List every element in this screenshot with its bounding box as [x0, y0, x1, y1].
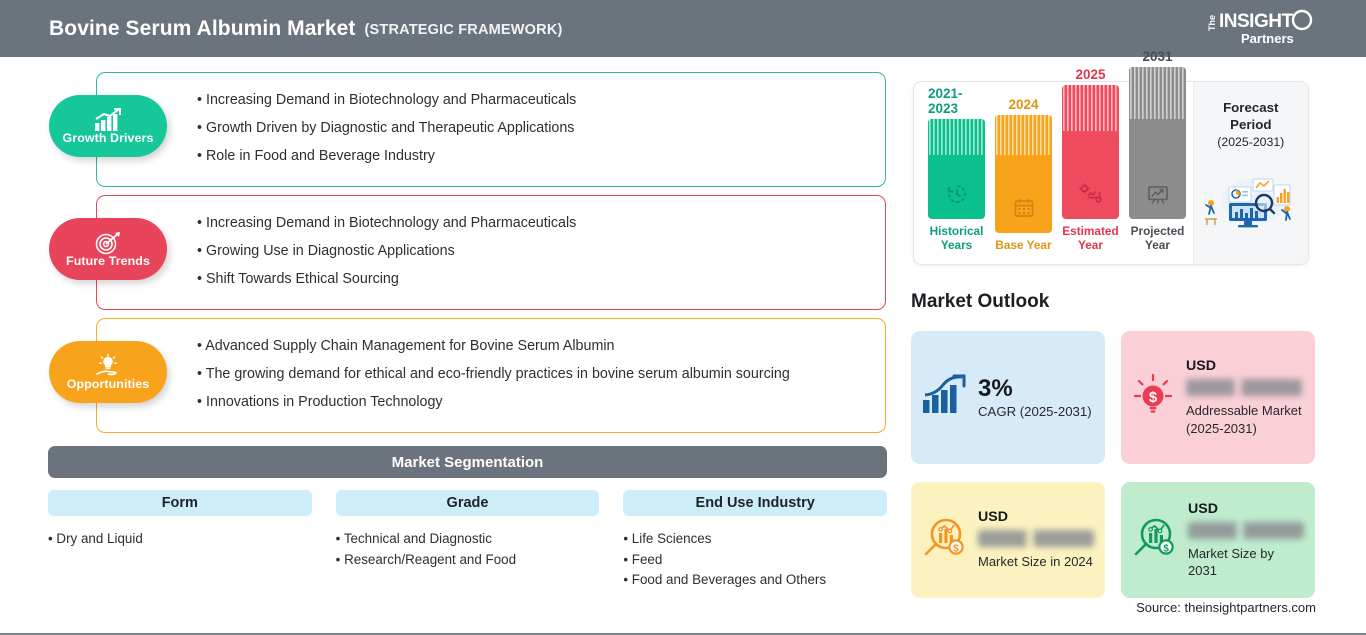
bar-caption: Estimated Year — [1062, 225, 1119, 252]
bar-caption: Projected Year — [1129, 225, 1186, 252]
calendar-icon — [1013, 197, 1035, 224]
bar-historical-years: 2021-2023 — [928, 86, 985, 252]
forecast-bar-chart: 2021-2023 — [914, 82, 1193, 264]
svg-text:$: $ — [1163, 543, 1169, 554]
person-left — [1205, 200, 1217, 225]
bullet-item: Increasing Demand in Biotechnology and P… — [197, 86, 869, 114]
lightbulb-dollar-icon: $ — [1130, 371, 1176, 424]
svg-text:$: $ — [1149, 389, 1158, 406]
badge-label: Opportunities — [67, 377, 150, 391]
hand-lightbulb-icon — [93, 354, 123, 378]
bullet-item: Growth Driven by Diagnostic and Therapeu… — [197, 114, 869, 142]
badge-growth-drivers[interactable]: Growth Drivers — [49, 95, 167, 157]
bullet-item: Growing Use in Diagnostic Applications — [197, 237, 869, 265]
card-cagr[interactable]: 3% CAGR (2025-2031) — [911, 331, 1105, 464]
bar-stripes — [1129, 67, 1186, 119]
bar-stripes — [995, 115, 1052, 155]
badge-label: Future Trends — [66, 254, 150, 268]
monitor-chart-icon — [1146, 183, 1170, 210]
bullet-item: Increasing Demand in Biotechnology and P… — [197, 209, 869, 237]
bar-caption: Base Year — [995, 239, 1051, 253]
blurred-value — [978, 530, 1094, 547]
bar-year-label: 2021-2023 — [928, 86, 985, 116]
gear-chart-icon — [1079, 183, 1103, 210]
magnifier-chart-dollar-green-icon: $ — [1130, 514, 1178, 567]
column-title: Form — [48, 490, 312, 516]
svg-text:INSIGHT: INSIGHT — [1219, 11, 1293, 32]
blurred-value — [1188, 522, 1304, 539]
target-dartboard-icon — [94, 231, 122, 255]
growth-drivers-panel: Increasing Demand in Biotechnology and P… — [96, 72, 886, 187]
market-segmentation-header: Market Segmentation — [48, 446, 887, 478]
badge-label: Growth Drivers — [63, 131, 154, 145]
currency-label: USD — [978, 509, 1096, 525]
cagr-value: 3% — [978, 376, 1096, 402]
segmentation-column-grade: Grade Technical and Diagnostic Research/… — [336, 490, 600, 591]
opportunities-panel: Advanced Supply Chain Management for Bov… — [96, 318, 886, 433]
bar-stripes — [928, 119, 985, 155]
people-analytics-illustration — [1201, 167, 1301, 234]
bar-year-label: 2031 — [1142, 49, 1172, 64]
segmentation-column-end-use-industry: End Use Industry Life Sciences Feed Food… — [623, 490, 887, 591]
svg-text:Partners: Partners — [1241, 31, 1294, 46]
future-trends-panel: Increasing Demand in Biotechnology and P… — [96, 195, 886, 310]
svg-text:The: The — [1207, 15, 1217, 31]
logo-icon: The INSIGHT Partners — [1199, 7, 1319, 49]
list-item: Dry and Liquid — [48, 529, 312, 550]
segmentation-columns: Form Dry and Liquid Grade Technical and … — [48, 490, 887, 591]
forecast-line-2: Period — [1230, 116, 1271, 133]
page-subtitle: (STRATEGIC FRAMEWORK) — [364, 22, 562, 38]
page-title: Bovine Serum Albumin Market — [49, 17, 355, 41]
bar-projected-year: 2031 — [1129, 49, 1186, 252]
bar-estimated-year: 2025 — [1062, 67, 1119, 252]
bar-shape — [928, 119, 985, 219]
cagr-label: CAGR (2025-2031) — [978, 404, 1096, 419]
column-title: End Use Industry — [623, 490, 887, 516]
bar-shape — [1129, 67, 1186, 219]
card-addressable-market[interactable]: $ USD Addressable Market (2025-2031) — [1121, 331, 1315, 464]
badge-opportunities[interactable]: Opportunities — [49, 341, 167, 403]
insight-partners-logo: The INSIGHT Partners — [1199, 7, 1319, 49]
list-item: Research/Reagent and Food — [336, 550, 600, 571]
badge-future-trends[interactable]: Future Trends — [49, 218, 167, 280]
source-attribution: Source: theinsightpartners.com — [1136, 600, 1316, 615]
card-label: Market Size in 2024 — [978, 553, 1096, 571]
bullet-item: Advanced Supply Chain Management for Bov… — [197, 332, 869, 360]
card-market-size-2024[interactable]: $ USD Market Size in 2024 — [911, 482, 1105, 598]
card-label: Addressable Market (2025-2031) — [1186, 402, 1306, 437]
bullet-item: Innovations in Production Technology — [197, 388, 869, 416]
bar-chart-arrow-up-icon — [93, 108, 123, 132]
bar-shape — [995, 115, 1052, 233]
bullet-item: The growing demand for ethical and eco-f… — [197, 360, 869, 388]
clock-history-icon — [946, 183, 968, 210]
bar-stripes — [1062, 85, 1119, 131]
segmentation-title: Market Segmentation — [392, 454, 544, 471]
list-item: Life Sciences — [623, 529, 887, 550]
bullet-item: Role in Food and Beverage Industry — [197, 142, 869, 170]
bar-base-year: 2024 — [995, 97, 1052, 253]
list-item: Feed — [623, 550, 887, 571]
card-label: Market Size by 2031 — [1188, 545, 1306, 580]
forecast-line-1: Forecast — [1223, 99, 1278, 116]
bar-shape — [1062, 85, 1119, 219]
forecast-line-3: (2025-2031) — [1217, 135, 1284, 149]
market-outlook-title: Market Outlook — [911, 291, 1049, 313]
forecast-period-panel: 2021-2023 — [913, 81, 1309, 265]
svg-text:$: $ — [953, 543, 959, 554]
card-market-size-2031[interactable]: $ USD Market Size by 2031 — [1121, 482, 1315, 598]
blurred-value — [1186, 379, 1302, 396]
segmentation-column-form: Form Dry and Liquid — [48, 490, 312, 591]
bar-caption: Historical Years — [928, 225, 985, 252]
currency-label: USD — [1188, 501, 1306, 517]
bullet-item: Shift Towards Ethical Sourcing — [197, 265, 869, 293]
bar-chart-arrow-blue-icon — [920, 374, 968, 421]
list-item: Food and Beverages and Others — [623, 570, 887, 591]
list-item: Technical and Diagnostic — [336, 529, 600, 550]
currency-label: USD — [1186, 358, 1306, 374]
column-title: Grade — [336, 490, 600, 516]
bar-year-label: 2024 — [1008, 97, 1038, 112]
bar-year-label: 2025 — [1075, 67, 1105, 82]
magnifier-chart-dollar-orange-icon: $ — [920, 514, 968, 567]
forecast-period-label-panel: Forecast Period (2025-2031) — [1193, 82, 1308, 264]
